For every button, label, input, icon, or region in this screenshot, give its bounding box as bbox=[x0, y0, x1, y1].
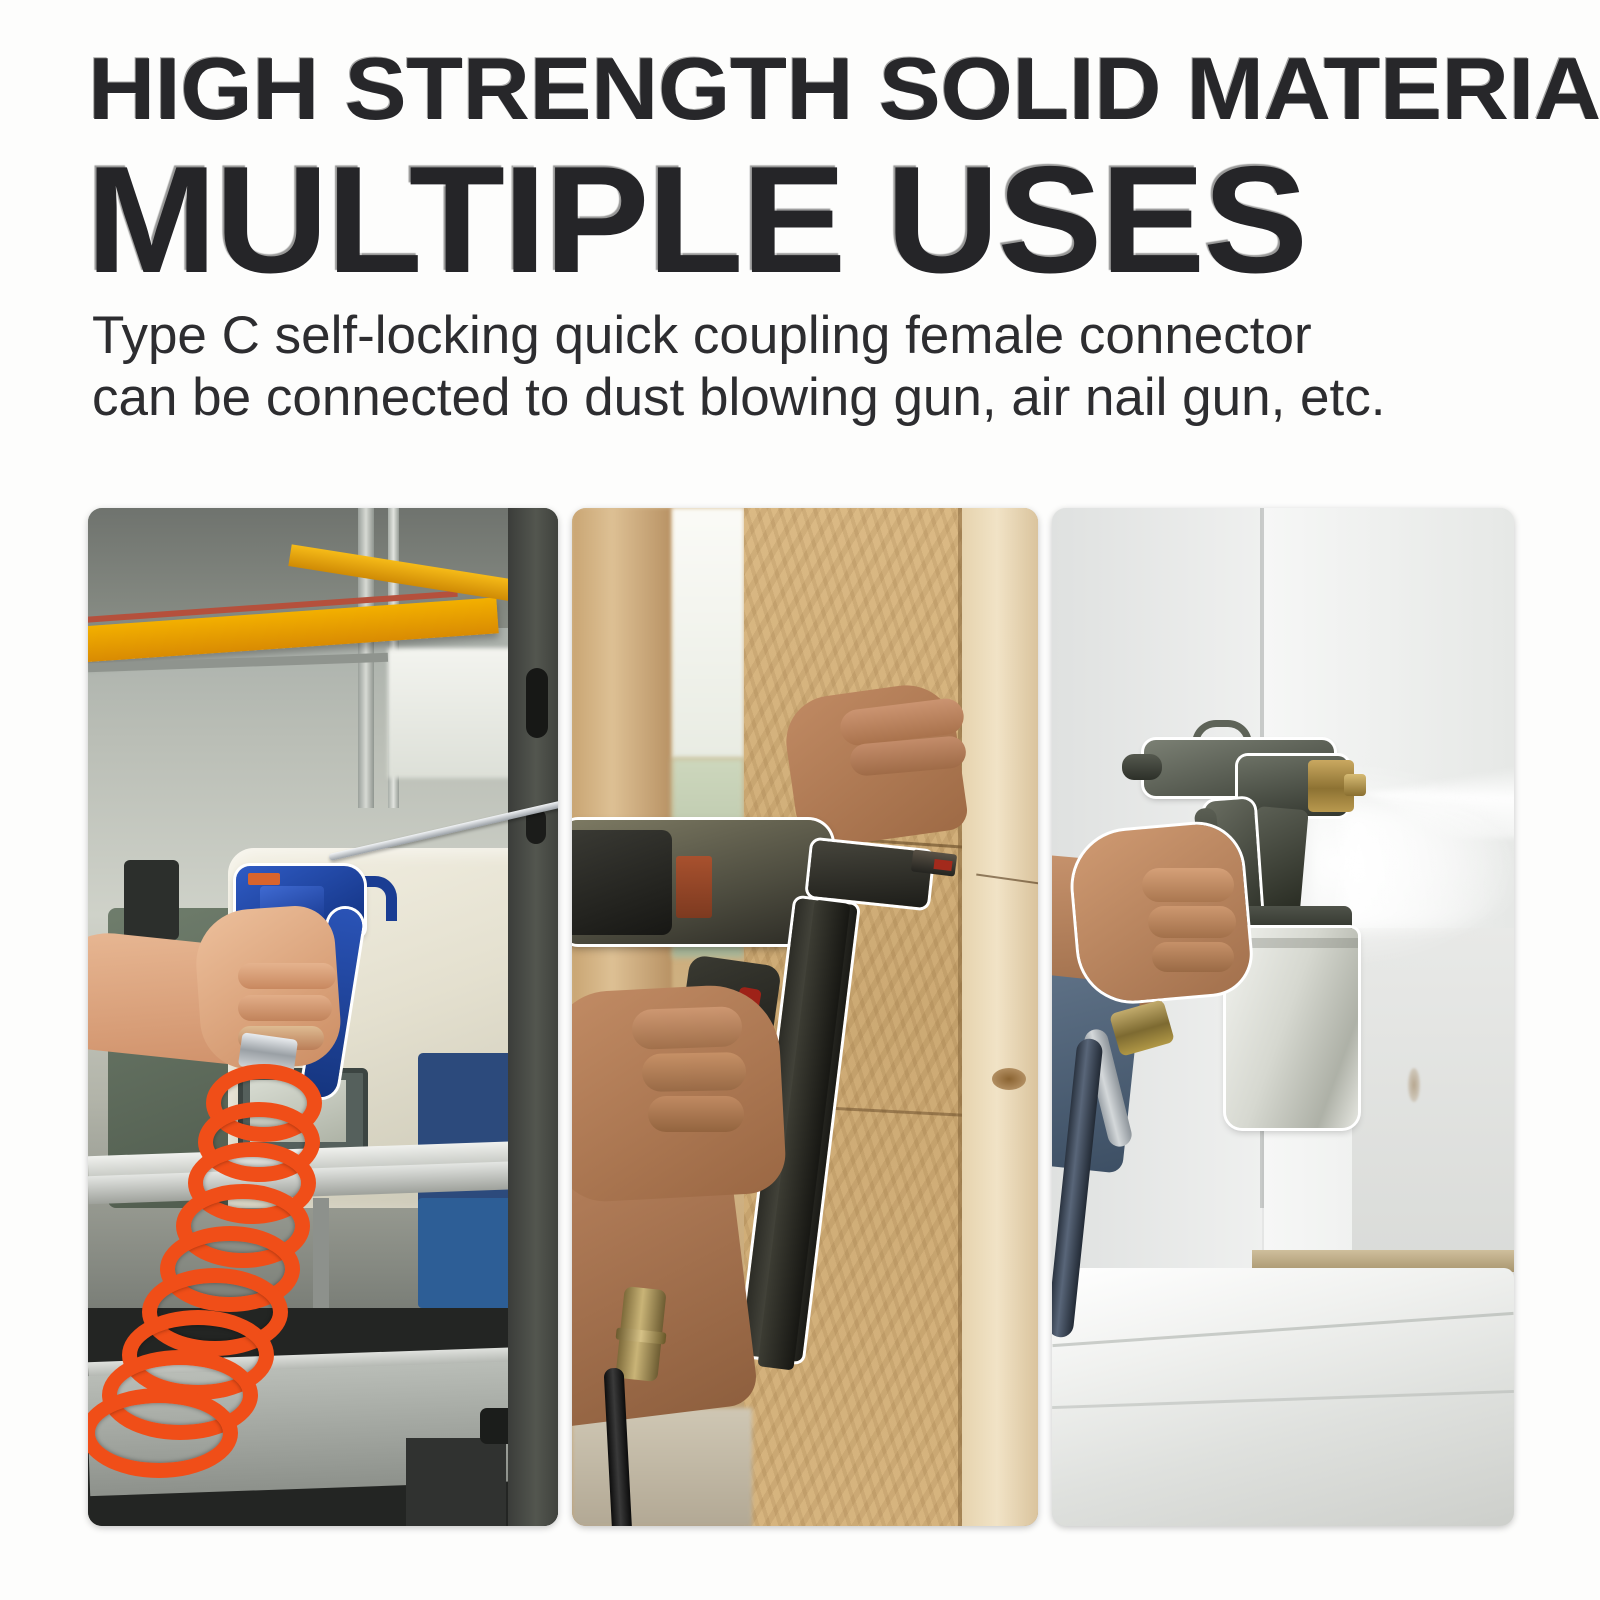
column-slot bbox=[526, 668, 548, 738]
wood-knot bbox=[992, 1068, 1026, 1090]
product-feature-banner: HIGH STRENGTH SOLID MATERIAL MULTIPLE US… bbox=[0, 0, 1600, 1600]
open-framing-gap bbox=[672, 508, 744, 758]
finger bbox=[1148, 906, 1236, 938]
scene-workshop bbox=[88, 508, 558, 1526]
foreground-stud bbox=[962, 508, 1038, 1526]
blow-gun-label bbox=[248, 873, 280, 885]
nail-driver-mark bbox=[933, 859, 952, 871]
scene-framing bbox=[572, 508, 1038, 1526]
panel-gallery: Dust Blowing Gun bbox=[0, 0, 1600, 1600]
osb-sheathing bbox=[744, 508, 964, 1526]
finger bbox=[642, 1052, 747, 1092]
nail-gun-rear-cap bbox=[572, 830, 672, 935]
machine-column bbox=[508, 508, 558, 1526]
panel-dust-blowing-gun[interactable]: Dust Blowing Gun bbox=[88, 508, 558, 1526]
dark-fixture bbox=[406, 1438, 506, 1526]
panel-spray-gun[interactable]: Spray Gun bbox=[1052, 508, 1514, 1526]
scene-painting bbox=[1052, 508, 1514, 1526]
paint-mist-cloud bbox=[1342, 808, 1514, 928]
finger bbox=[631, 1006, 742, 1050]
spray-gun-adjust-knob bbox=[1122, 754, 1162, 780]
panel-air-nail-gun[interactable]: Air Nail Gun bbox=[572, 508, 1038, 1526]
subfloor bbox=[572, 1408, 752, 1526]
finger bbox=[238, 995, 332, 1021]
spray-gun-nozzle bbox=[1344, 774, 1366, 796]
nail-gun-label bbox=[676, 856, 712, 918]
wall-blemish bbox=[1408, 1068, 1420, 1102]
finger bbox=[1152, 942, 1234, 972]
machine-drum bbox=[124, 860, 179, 940]
finger bbox=[1142, 868, 1234, 902]
finger bbox=[648, 1096, 744, 1132]
finger bbox=[238, 963, 336, 989]
